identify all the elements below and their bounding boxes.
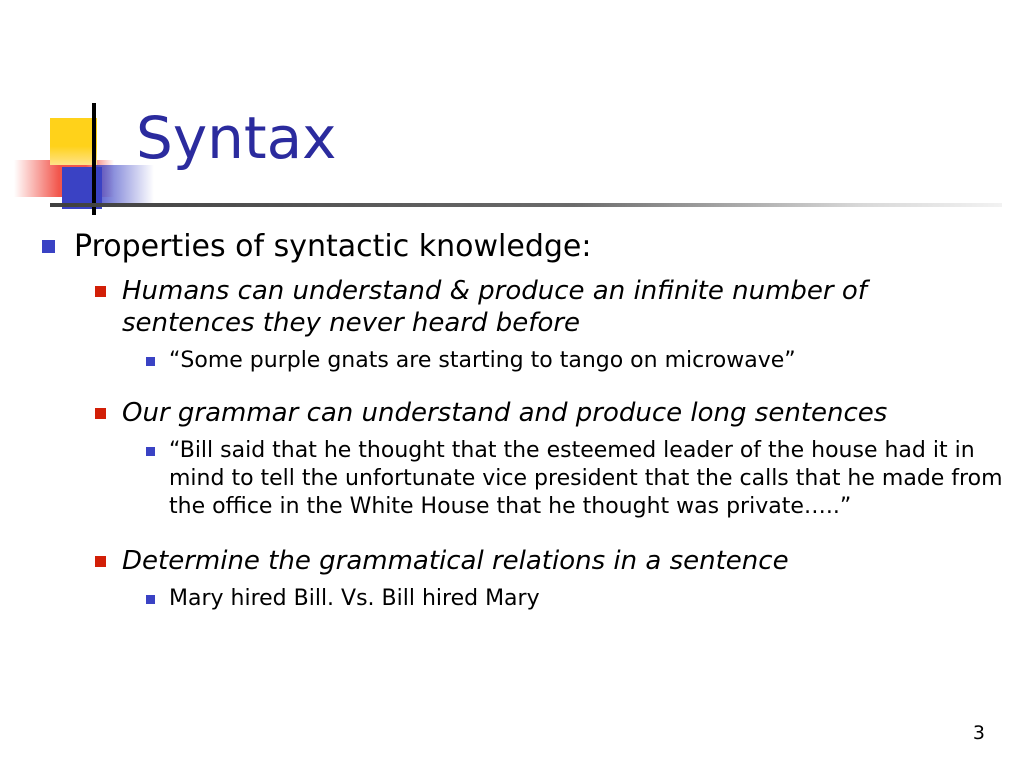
decoration-vertical-rule xyxy=(92,103,96,215)
decoration-horizontal-rule xyxy=(50,203,1002,207)
bullet-level2-item1: Humans can understand & produce an infin… xyxy=(0,275,1024,339)
bullet-level3-text: “Bill said that he thought that the este… xyxy=(169,437,1009,521)
bullet-level3-text: Mary hired Bill. Vs. Bill hired Mary xyxy=(169,585,540,613)
bullet-level3-item2-sub1: “Bill said that he thought that the este… xyxy=(0,437,1024,521)
bullet-level2-text: Determine the grammatical relations in a… xyxy=(122,545,789,577)
slide-title: Syntax xyxy=(136,109,337,167)
page-number: 3 xyxy=(973,722,985,744)
bullet-square-icon xyxy=(146,357,155,366)
bullet-level2-item2: Our grammar can understand and produce l… xyxy=(0,397,1024,429)
bullet-square-icon xyxy=(95,286,106,297)
bullet-level3-text: “Some purple gnats are starting to tango… xyxy=(169,347,796,375)
title-area: Syntax xyxy=(0,95,1024,225)
bullet-square-icon xyxy=(95,556,106,567)
slide-canvas: { "slide": { "title": "Syntax", "page_nu… xyxy=(0,0,1024,768)
bullet-level3-item3-sub1: Mary hired Bill. Vs. Bill hired Mary xyxy=(0,585,1024,613)
bullet-square-icon xyxy=(146,447,155,456)
bullet-level1-heading: Properties of syntactic knowledge: xyxy=(0,228,1024,265)
bullet-level1-text: Properties of syntactic knowledge: xyxy=(74,228,592,265)
decoration-yellow-square xyxy=(50,118,97,165)
slide-body: Properties of syntactic knowledge: Human… xyxy=(0,228,1024,613)
bullet-level2-text: Our grammar can understand and produce l… xyxy=(122,397,887,429)
bullet-square-icon xyxy=(42,240,55,253)
bullet-square-icon xyxy=(146,595,155,604)
bullet-level2-text: Humans can understand & produce an infin… xyxy=(122,275,1002,339)
bullet-level2-item3: Determine the grammatical relations in a… xyxy=(0,545,1024,577)
bullet-square-icon xyxy=(95,408,106,419)
bullet-level3-item1-sub1: “Some purple gnats are starting to tango… xyxy=(0,347,1024,375)
